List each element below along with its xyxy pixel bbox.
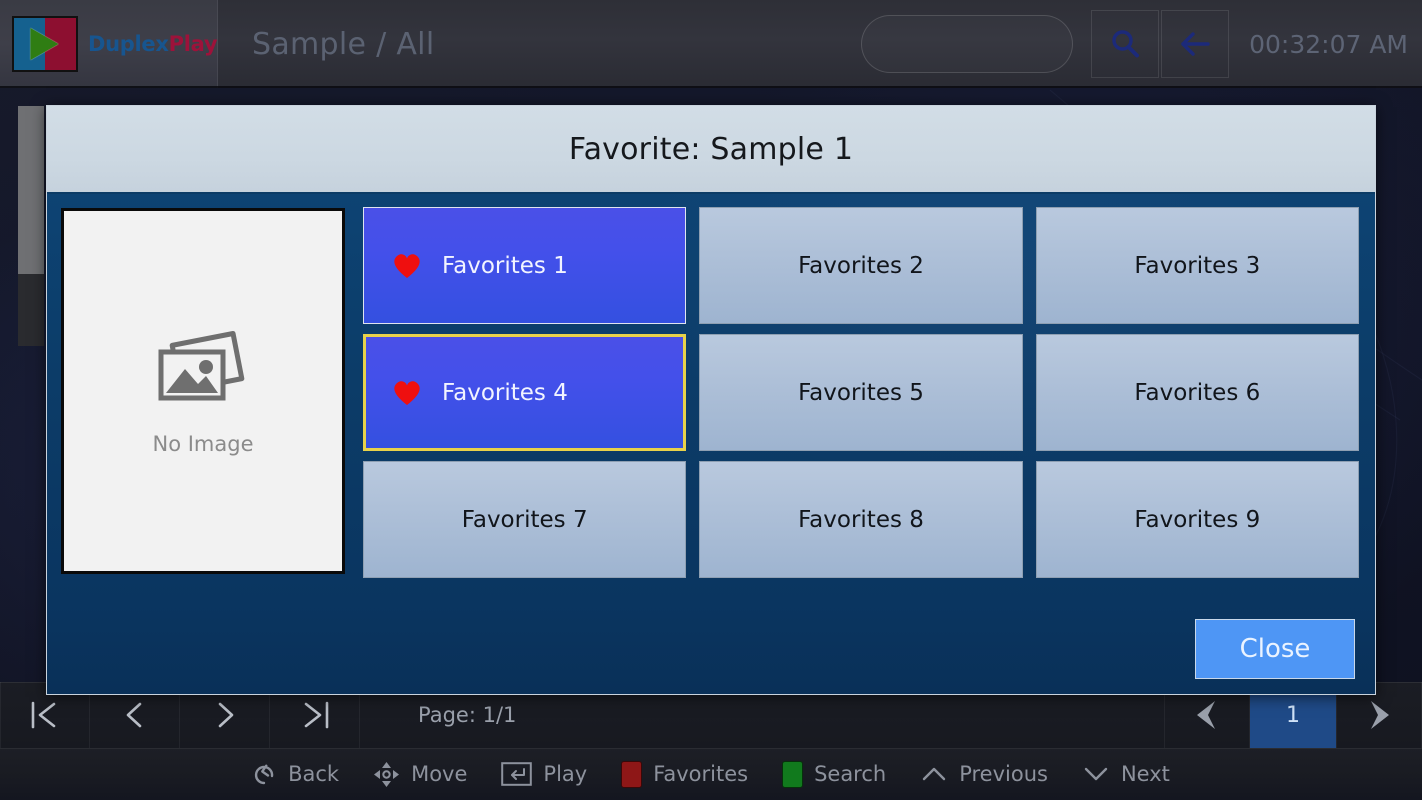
no-image-photos-icon	[148, 326, 258, 412]
last-page-icon	[294, 697, 336, 733]
favorite-button-8[interactable]: Favorites 8	[699, 461, 1022, 578]
brand-name-second: Play	[169, 32, 218, 56]
favorite-button-6[interactable]: Favorites 6	[1036, 334, 1359, 451]
favorite-button-4[interactable]: Favorites 4	[363, 334, 686, 451]
favorite-label-8: Favorites 8	[798, 507, 924, 533]
favorite-button-9[interactable]: Favorites 9	[1036, 461, 1359, 578]
green-button-swatch-icon	[782, 761, 803, 788]
bottom-hint-bar: Back Move Play	[0, 748, 1422, 800]
hint-move-label: Move	[411, 762, 467, 786]
favorite-label-4: Favorites 4	[442, 380, 568, 406]
enter-key-icon	[501, 762, 532, 786]
favorite-label-6: Favorites 6	[1134, 380, 1260, 406]
back-button[interactable]	[1161, 10, 1229, 78]
hint-next-label: Next	[1121, 762, 1170, 786]
brand-name-first: Duplex	[88, 32, 169, 56]
chevron-down-icon	[1082, 763, 1110, 785]
channel-poster: No Image	[61, 208, 345, 574]
favorite-dialog: Favorite: Sample 1 No Image	[46, 105, 1376, 695]
hint-search[interactable]: Search	[782, 761, 886, 788]
clock: 00:32:07 AM	[1231, 30, 1422, 59]
favorite-button-3[interactable]: Favorites 3	[1036, 207, 1359, 324]
no-image-label: No Image	[152, 432, 253, 456]
favorite-label-3: Favorites 3	[1134, 253, 1260, 279]
brand-wordmark: DuplexPlay	[88, 32, 217, 56]
prev-page-icon	[114, 697, 156, 733]
hint-back[interactable]: Back	[252, 762, 339, 787]
duplexplay-logo-icon	[12, 16, 78, 72]
hint-previous[interactable]: Previous	[920, 762, 1048, 786]
favorite-label-5: Favorites 5	[798, 380, 924, 406]
list-scrollbar-thumb[interactable]	[18, 106, 44, 274]
heart-icon	[392, 252, 422, 279]
heart-icon	[392, 379, 422, 406]
favorite-label-2: Favorites 2	[798, 253, 924, 279]
favorites-grid: Favorites 1 Favorites 2 Favorites 3 Favo…	[363, 207, 1359, 604]
hint-play-label: Play	[543, 762, 587, 786]
search-icon	[1108, 27, 1142, 61]
favorite-button-7[interactable]: Favorites 7	[363, 461, 686, 578]
next-page-icon	[204, 697, 246, 733]
breadcrumb: Sample / All	[218, 27, 434, 62]
hint-favorites[interactable]: Favorites	[621, 761, 748, 788]
chevron-left-icon	[1187, 696, 1227, 734]
search-button[interactable]	[1091, 10, 1159, 78]
red-button-swatch-icon	[621, 761, 642, 788]
hint-search-label: Search	[814, 762, 886, 786]
favorite-label-7: Favorites 7	[462, 507, 588, 533]
favorite-label-1: Favorites 1	[442, 253, 568, 279]
header-actions: 00:32:07 AM	[861, 0, 1422, 88]
hint-previous-label: Previous	[959, 762, 1048, 786]
dialog-footer: Close	[47, 604, 1375, 694]
search-input[interactable]	[861, 15, 1073, 73]
dialog-header: Favorite: Sample 1	[47, 106, 1375, 194]
favorite-button-1[interactable]: Favorites 1	[363, 207, 686, 324]
first-page-icon	[24, 697, 66, 733]
favorite-button-5[interactable]: Favorites 5	[699, 334, 1022, 451]
hint-play[interactable]: Play	[501, 762, 587, 786]
top-header-bar: DuplexPlay Sample / All 00:32:07 AM	[0, 0, 1422, 88]
arrow-left-icon	[1177, 29, 1213, 59]
hint-next[interactable]: Next	[1082, 762, 1170, 786]
favorite-button-2[interactable]: Favorites 2	[699, 207, 1022, 324]
undo-icon	[252, 762, 277, 787]
hint-move[interactable]: Move	[373, 761, 467, 788]
dialog-title: Favorite: Sample 1	[569, 132, 853, 167]
chevron-right-icon	[1359, 696, 1399, 734]
close-button[interactable]: Close	[1195, 619, 1355, 679]
favorite-label-9: Favorites 9	[1134, 507, 1260, 533]
hint-back-label: Back	[288, 762, 339, 786]
dpad-move-icon	[373, 761, 400, 788]
hint-favorites-label: Favorites	[653, 762, 748, 786]
dialog-body: No Image Favorites 1 Favorites 2 Favorit…	[47, 194, 1375, 604]
page-indicator: Page: 1/1	[418, 703, 516, 727]
chevron-up-icon	[920, 763, 948, 785]
brand-area[interactable]: DuplexPlay	[0, 0, 218, 88]
app-root: DuplexPlay Sample / All 00:32:07 AM	[0, 0, 1422, 800]
